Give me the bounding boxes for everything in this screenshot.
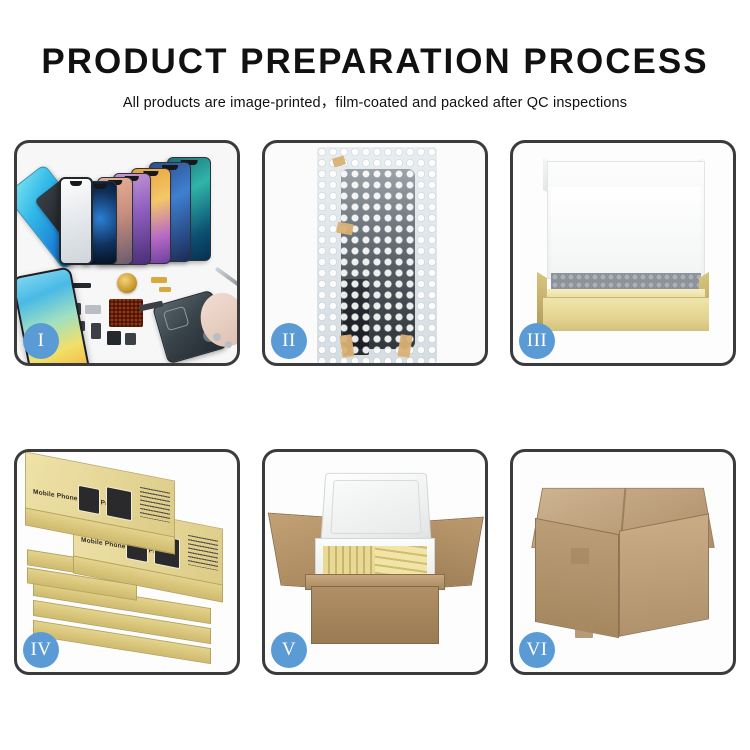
part-button-icon [125, 333, 136, 345]
process-step-5: V [262, 449, 488, 675]
part-gold-clip-icon [159, 287, 171, 292]
step-badge-4: IV [23, 632, 59, 668]
process-step-2: II [262, 140, 488, 366]
carton-front-icon [311, 586, 439, 644]
process-step-1: I [14, 140, 240, 366]
tweezer-icon [215, 267, 237, 288]
bubble-wrap-bag-icon [317, 147, 437, 363]
box-spec-lines [140, 487, 170, 523]
process-step-4: Mobile Phone Spare Parts Mobile Phone Sp… [14, 449, 240, 675]
process-step-6: VI [510, 449, 736, 675]
carton-tab-icon [571, 548, 589, 564]
box-window-icon [78, 485, 100, 515]
part-bracket-icon [85, 305, 101, 314]
box-front-panel-icon [543, 297, 709, 331]
carton-side-right-icon [619, 513, 709, 636]
foam-liner-icon [551, 187, 701, 275]
step-badge-5: V [271, 632, 307, 668]
page-title: PRODUCT PREPARATION PROCESS [0, 42, 750, 82]
process-step-3: III [510, 140, 736, 366]
notch-icon [94, 184, 107, 189]
part-camera-icon [107, 331, 121, 345]
part-screw-icon [213, 333, 221, 341]
foam-cooler-lid-inset [330, 480, 421, 534]
part-gold-clip-icon [151, 277, 167, 283]
box-window-icon [106, 486, 132, 521]
bubble-texture-icon [317, 147, 437, 363]
spare-parts-cluster [63, 271, 237, 363]
step-badge-2: II [271, 323, 307, 359]
process-steps-grid: I II [14, 140, 736, 675]
page-subtitle: All products are image-printed，film-coat… [0, 91, 750, 112]
phone-lineup [91, 157, 237, 267]
logic-board-icon [109, 299, 143, 327]
notch-icon [70, 181, 82, 186]
foam-cooler-lid-icon [320, 473, 431, 542]
carton-side-left-icon [535, 518, 619, 638]
step-badge-3: III [519, 323, 555, 359]
product-preparation-infographic: PRODUCT PREPARATION PROCESS All products… [0, 0, 750, 750]
tempered-glass-icon [59, 177, 93, 265]
header: PRODUCT PREPARATION PROCESS All products… [0, 42, 750, 112]
part-screw-icon [225, 341, 232, 348]
speaker-module-icon [117, 273, 137, 293]
box-spec-lines [188, 535, 218, 571]
carton-tab-icon [575, 622, 593, 638]
part-flex-icon [91, 323, 101, 339]
step-badge-6: VI [519, 632, 555, 668]
step-badge-1: I [23, 323, 59, 359]
